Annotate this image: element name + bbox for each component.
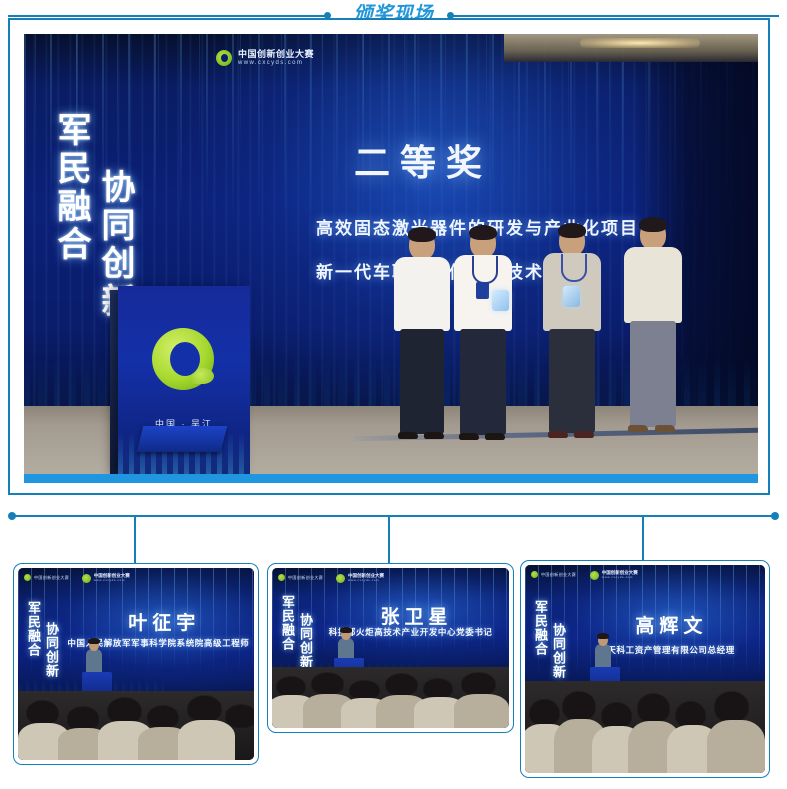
recipient-4-hair: [639, 217, 667, 232]
recipient-2-shoe-right: [485, 433, 505, 440]
thumbnail-card-2[interactable]: 中国创新创业大赛 中国创新创业大赛 www.cxcyds.com 军民融合 协同…: [267, 563, 514, 733]
thumb2-cxcyds-c-icon: [336, 574, 345, 583]
audience-head: [424, 679, 452, 698]
thumb2-venue-logo-icon: [278, 574, 285, 581]
recipient-2-badge: [476, 282, 489, 299]
connector-drop-line-1: [134, 516, 136, 563]
audience-head: [602, 703, 631, 728]
recipient-4-shoe-right: [655, 425, 675, 432]
ceiling-light-icon: [580, 38, 700, 48]
thumbnail-card-3[interactable]: 中国创新创业大赛 中国创新创业大赛 www.cxcyds.com 军民融合 协同…: [520, 560, 770, 778]
recipient-1-head: [409, 230, 435, 260]
recipient-4-shirt: [624, 247, 682, 323]
audience-head: [312, 673, 343, 694]
thumb1-cxcyds-c-icon: [82, 574, 91, 583]
audience-head: [148, 706, 179, 728]
thumb3-competition-logo: 中国创新创业大赛 www.cxcyds.com: [590, 571, 638, 580]
recipient-4-shoe-left: [628, 425, 648, 432]
award-recipient-2: [454, 228, 512, 446]
thumb3-cxcyds-c-icon: [590, 571, 599, 580]
audience-shoulder: [178, 720, 235, 760]
audience-head: [350, 681, 378, 699]
page-root: 颁奖现场 中国创新创业大赛 www.cxcyds.com: [0, 0, 787, 789]
recipient-1-shirt: [394, 257, 450, 331]
audience-head: [462, 673, 495, 694]
recipient-2-hair: [469, 225, 497, 240]
audience-head: [68, 707, 99, 729]
award-level-title: 二等奖: [354, 134, 492, 186]
recipient-2-lanyard: [472, 256, 498, 284]
competition-logo-text: 中国创新创业大赛 www.cxcyds.com: [238, 50, 314, 66]
recipient-2-trousers: [460, 329, 506, 435]
recipient-4-trousers: [630, 321, 676, 427]
thumb3-competition-logo-text: 中国创新创业大赛 www.cxcyds.com: [602, 571, 638, 579]
audience-head: [530, 700, 559, 726]
thumb2-competition-logo: 中国创新创业大赛 www.cxcyds.com: [336, 574, 384, 583]
thumb1-speaker-role: 中国人民解放军军事科学院系统院高级工程师: [18, 637, 254, 649]
stage-monitor: [137, 426, 227, 452]
recipient-2-trophy: [492, 290, 509, 311]
thumbnail-3-photo: 中国创新创业大赛 中国创新创业大赛 www.cxcyds.com 军民融合 协同…: [525, 565, 765, 773]
thumb3-speaker-role: 航天科工资产管理有限公司总经理: [525, 644, 765, 656]
thumb3-competition-logo-url: www.cxcyds.com: [602, 576, 638, 579]
recipient-1-trousers: [400, 329, 444, 434]
recipient-1-hair: [408, 227, 436, 242]
audience-head: [638, 694, 669, 721]
podium-c-logo-icon: [152, 328, 214, 390]
thumb2-speaker-role: 科技部火炬高技术产业开发中心党委书记: [272, 626, 509, 638]
award-recipient-3: [543, 226, 601, 444]
thumb2-competition-logo-url: www.cxcyds.com: [348, 579, 384, 582]
thumb1-speaker-figure: [86, 649, 102, 675]
audience-shoulder: [454, 694, 509, 728]
audience-head: [715, 692, 749, 720]
connector-horizontal-line: [12, 515, 775, 517]
recipient-3-trousers: [549, 329, 595, 433]
thumb2-speaker-name: 张卫星: [272, 602, 509, 629]
stage-slogan-left: 军民融合: [54, 112, 88, 264]
thumb1-venue-logo-icon: [24, 574, 31, 581]
audience-head: [277, 677, 305, 696]
thumb3-speaker-name: 高辉文: [525, 611, 765, 638]
competition-logo-name: 中国创新创业大赛: [238, 50, 314, 59]
recipient-3-head: [559, 226, 585, 256]
connector-dot-right-icon: [771, 512, 779, 520]
audience-head: [386, 674, 417, 695]
competition-logo: 中国创新创业大赛 www.cxcyds.com: [216, 50, 314, 66]
thumb1-audience: [18, 691, 254, 760]
award-recipient-4: [624, 220, 682, 442]
connector-drop-line-3: [642, 516, 644, 563]
recipient-3-trophy: [563, 286, 580, 307]
thumb1-competition-logo: 中国创新创业大赛 www.cxcyds.com: [82, 574, 130, 583]
thumbnail-2-photo: 中国创新创业大赛 中国创新创业大赛 www.cxcyds.com 军民融合 协同…: [272, 568, 509, 728]
thumb2-venue-logo-text: 中国创新创业大赛: [288, 575, 323, 581]
audience-head: [188, 696, 221, 721]
header-rule-right: [450, 15, 779, 17]
award-ceremony-photo: 中国创新创业大赛 www.cxcyds.com 军民融合 协同创新 二等奖 高效…: [24, 34, 758, 474]
thumbnail-1-photo: 中国创新创业大赛 中国创新创业大赛 www.cxcyds.com 军民融合 协同…: [18, 568, 254, 760]
recipient-1-shoe-right: [424, 432, 444, 439]
thumbnail-connector: [0, 500, 787, 562]
main-photo-frame: 中国创新创业大赛 www.cxcyds.com 军民融合 协同创新 二等奖 高效…: [8, 18, 770, 495]
connector-drop-line-2: [388, 516, 390, 563]
thumb3-venue-logo-text: 中国创新创业大赛: [541, 572, 576, 578]
audience-head: [226, 705, 254, 727]
recipient-4-head: [640, 220, 666, 250]
recipient-3-lanyard: [561, 254, 587, 282]
recipient-3-shoe-right: [574, 431, 594, 438]
recipient-1-shoe-left: [398, 432, 418, 439]
recipient-3-hair: [558, 223, 586, 238]
thumb1-venue-logo-text: 中国创新创业大赛: [34, 575, 69, 581]
recipient-2-shoe-left: [459, 433, 479, 440]
thumb2-venue-logo: 中国创新创业大赛: [278, 574, 323, 581]
thumb1-competition-logo-url: www.cxcyds.com: [94, 579, 130, 582]
award-recipient-1: [394, 230, 450, 445]
recipient-3-shoe-left: [548, 431, 568, 438]
audience-head: [563, 692, 594, 719]
photo-accent-bar: [24, 474, 758, 483]
thumb3-venue-logo: 中国创新创业大赛: [531, 571, 576, 578]
thumb3-venue-logo-icon: [531, 571, 538, 578]
audience-head: [108, 698, 141, 723]
thumb2-competition-logo-text: 中国创新创业大赛 www.cxcyds.com: [348, 574, 384, 582]
recipient-2-head: [470, 228, 496, 258]
thumb1-competition-logo-text: 中国创新创业大赛 www.cxcyds.com: [94, 574, 130, 582]
audience-shoulder: [707, 720, 765, 773]
thumb1-speaker-name: 叶征宇: [18, 608, 254, 635]
thumb3-audience: [525, 681, 765, 773]
thumb1-venue-logo: 中国创新创业大赛: [24, 574, 69, 581]
audience-head: [27, 701, 58, 724]
thumb2-audience: [272, 667, 509, 728]
thumbnail-card-1[interactable]: 中国创新创业大赛 中国创新创业大赛 www.cxcyds.com 军民融合 协同…: [13, 563, 259, 765]
cxcyds-c-icon: [216, 50, 232, 66]
competition-logo-url: www.cxcyds.com: [238, 60, 314, 66]
audience-head: [676, 702, 705, 728]
